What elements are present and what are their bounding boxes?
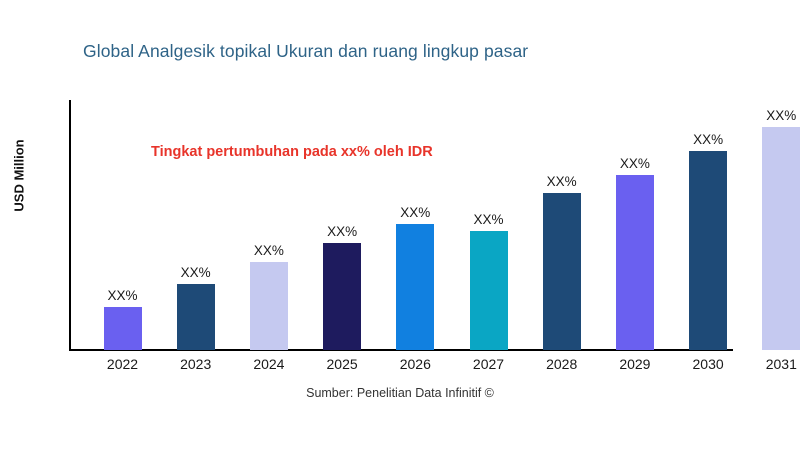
bar-value-label: XX% xyxy=(104,288,142,303)
plot-area: XX%2022XX%2023XX%2024XX%2025XX%2026XX%20… xyxy=(0,0,800,450)
bar-value-label: XX% xyxy=(323,224,361,239)
bar-group: XX%2031 xyxy=(762,0,800,350)
bar[interactable] xyxy=(470,231,508,350)
bar[interactable] xyxy=(177,284,215,350)
bar-value-label: XX% xyxy=(762,108,800,123)
bar-group: XX%2024 xyxy=(250,0,288,350)
x-axis-tick-label: 2030 xyxy=(689,356,727,372)
x-axis-tick-label: 2026 xyxy=(396,356,434,372)
bar-group: XX%2030 xyxy=(689,0,727,350)
x-axis-tick-label: 2023 xyxy=(177,356,215,372)
bar-group: XX%2025 xyxy=(323,0,361,350)
bar-group: XX%2023 xyxy=(177,0,215,350)
x-axis-tick-label: 2025 xyxy=(323,356,361,372)
bar[interactable] xyxy=(762,127,800,350)
bar-group: XX%2026 xyxy=(396,0,434,350)
x-axis-tick-label: 2028 xyxy=(543,356,581,372)
x-axis-tick-label: 2029 xyxy=(616,356,654,372)
x-axis-tick-label: 2031 xyxy=(762,356,800,372)
bar[interactable] xyxy=(616,175,654,350)
bar-value-label: XX% xyxy=(616,156,654,171)
source-note: Sumber: Penelitian Data Infinitif © xyxy=(0,386,800,400)
bar-value-label: XX% xyxy=(470,212,508,227)
bar-value-label: XX% xyxy=(543,174,581,189)
bar[interactable] xyxy=(689,151,727,350)
chart-figure: Global Analgesik topikal Ukuran dan ruan… xyxy=(0,0,800,450)
x-axis-tick-label: 2022 xyxy=(104,356,142,372)
bar-value-label: XX% xyxy=(396,205,434,220)
bar-group: XX%2028 xyxy=(543,0,581,350)
bar-group: XX%2029 xyxy=(616,0,654,350)
bar-value-label: XX% xyxy=(250,243,288,258)
bar[interactable] xyxy=(250,262,288,350)
bar-group: XX%2022 xyxy=(104,0,142,350)
bar[interactable] xyxy=(543,193,581,350)
bar-group: XX%2027 xyxy=(470,0,508,350)
bar-value-label: XX% xyxy=(177,265,215,280)
bar-value-label: XX% xyxy=(689,132,727,147)
x-axis-tick-label: 2027 xyxy=(470,356,508,372)
bar[interactable] xyxy=(323,243,361,350)
bar[interactable] xyxy=(104,307,142,350)
x-axis-tick-label: 2024 xyxy=(250,356,288,372)
bar[interactable] xyxy=(396,224,434,350)
